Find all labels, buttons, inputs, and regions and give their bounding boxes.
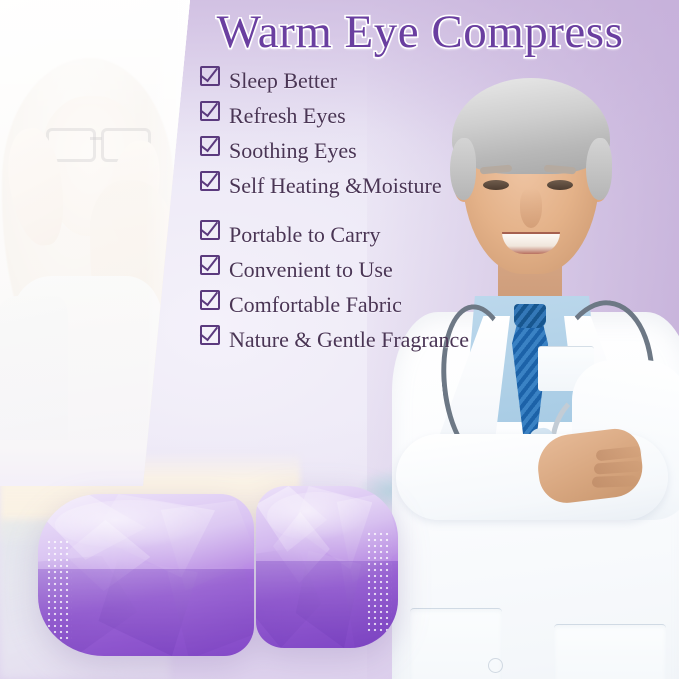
pad-highlight — [55, 500, 206, 549]
benefit-label: Self Heating &Moisture — [229, 175, 442, 197]
benefit-item: Convenient to Use — [200, 257, 620, 288]
benefit-item: Comfortable Fabric — [200, 292, 620, 323]
benefit-label: Refresh Eyes — [229, 105, 346, 127]
eye-compress-product-photo — [38, 486, 398, 666]
coat-button — [488, 658, 503, 673]
doctor-finger — [592, 475, 638, 488]
benefit-item: Refresh Eyes — [200, 103, 620, 134]
product-marketing-image: Warm Eye Compress Sleep Better Refresh E… — [0, 0, 679, 679]
eye-compress-pad-left — [38, 494, 254, 656]
benefit-item: Sleep Better — [200, 68, 620, 99]
benefits-list-secondary: Portable to Carry Convenient to Use Comf… — [200, 222, 620, 362]
benefit-item: Soothing Eyes — [200, 138, 620, 169]
coat-right-pocket — [554, 624, 666, 679]
checked-checkbox-icon — [200, 255, 220, 275]
checked-checkbox-icon — [200, 171, 220, 191]
checked-checkbox-icon — [200, 220, 220, 240]
checked-checkbox-icon — [200, 66, 220, 86]
page-title: Warm Eye Compress — [168, 8, 672, 57]
pad-perforation-dots — [366, 531, 392, 631]
eye-compress-pad-right — [256, 486, 398, 648]
benefit-item: Self Heating &Moisture — [200, 173, 620, 204]
benefit-label: Convenient to Use — [229, 259, 393, 281]
benefit-label: Nature & Gentle Fragrance — [229, 329, 469, 351]
benefit-label: Portable to Carry — [229, 224, 381, 246]
benefit-item: Portable to Carry — [200, 222, 620, 253]
checked-checkbox-icon — [200, 290, 220, 310]
benefit-label: Comfortable Fabric — [229, 294, 402, 316]
benefit-label: Sleep Better — [229, 70, 337, 92]
checked-checkbox-icon — [200, 136, 220, 156]
checked-checkbox-icon — [200, 325, 220, 345]
pad-perforation-dots — [46, 539, 72, 639]
benefits-list-primary: Sleep Better Refresh Eyes Soothing Eyes … — [200, 68, 620, 208]
pad-highlight — [267, 492, 366, 541]
benefit-item: Nature & Gentle Fragrance — [200, 327, 620, 358]
benefit-label: Soothing Eyes — [229, 140, 357, 162]
checked-checkbox-icon — [200, 101, 220, 121]
